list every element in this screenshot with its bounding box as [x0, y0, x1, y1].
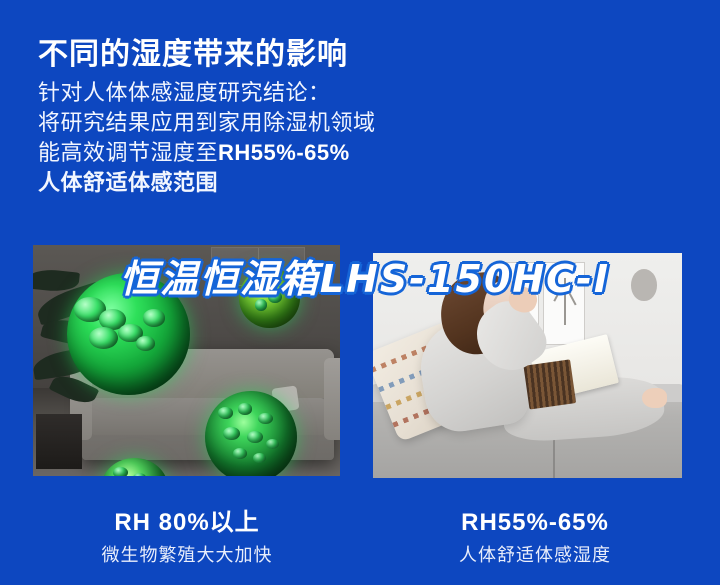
copy-line-3: 能高效调节湿度至RH55%-65%: [38, 138, 468, 168]
caption-right-sub: 人体舒适体感湿度: [375, 543, 695, 567]
woman-foot: [642, 388, 667, 408]
copy-line-4: 人体舒适体感范围: [38, 168, 468, 198]
right-wall-knob: [631, 269, 657, 301]
caption-right-main: RH55%-65%: [375, 508, 695, 538]
photo-right-comfort-humidity: [373, 253, 682, 478]
page-title: 不同的湿度带来的影响: [38, 36, 348, 74]
caption-left: RH 80%以上 微生物繁殖大大加快: [27, 508, 347, 567]
copy-line-1: 针对人体体感湿度研究结论：: [38, 78, 468, 108]
right-wall-frame: [543, 262, 585, 345]
microbe-cluster-bottom: [205, 391, 297, 476]
caption-left-main: RH 80%以上: [27, 508, 347, 538]
left-plant-pot: [36, 414, 82, 469]
copy-line-3-humidity-range: RH55%-65%: [218, 140, 350, 165]
microbe-cluster-large: [67, 273, 190, 395]
copy-line-3-prefix: 能高效调节湿度至: [38, 140, 218, 165]
photo-left-high-humidity: [33, 245, 340, 476]
humidity-effects-poster: 不同的湿度带来的影响 针对人体体感湿度研究结论： 将研究结果应用到家用除湿机领域…: [0, 0, 720, 585]
copy-line-2: 将研究结果应用到家用除湿机领域: [38, 108, 468, 138]
caption-right: RH55%-65% 人体舒适体感湿度: [375, 508, 695, 567]
caption-left-sub: 微生物繁殖大大加快: [27, 543, 347, 567]
microbe-cluster-top: [239, 268, 300, 328]
left-sofa-arm-right: [324, 358, 340, 440]
body-copy-block: 针对人体体感湿度研究结论： 将研究结果应用到家用除湿机领域 能高效调节湿度至RH…: [38, 78, 468, 198]
